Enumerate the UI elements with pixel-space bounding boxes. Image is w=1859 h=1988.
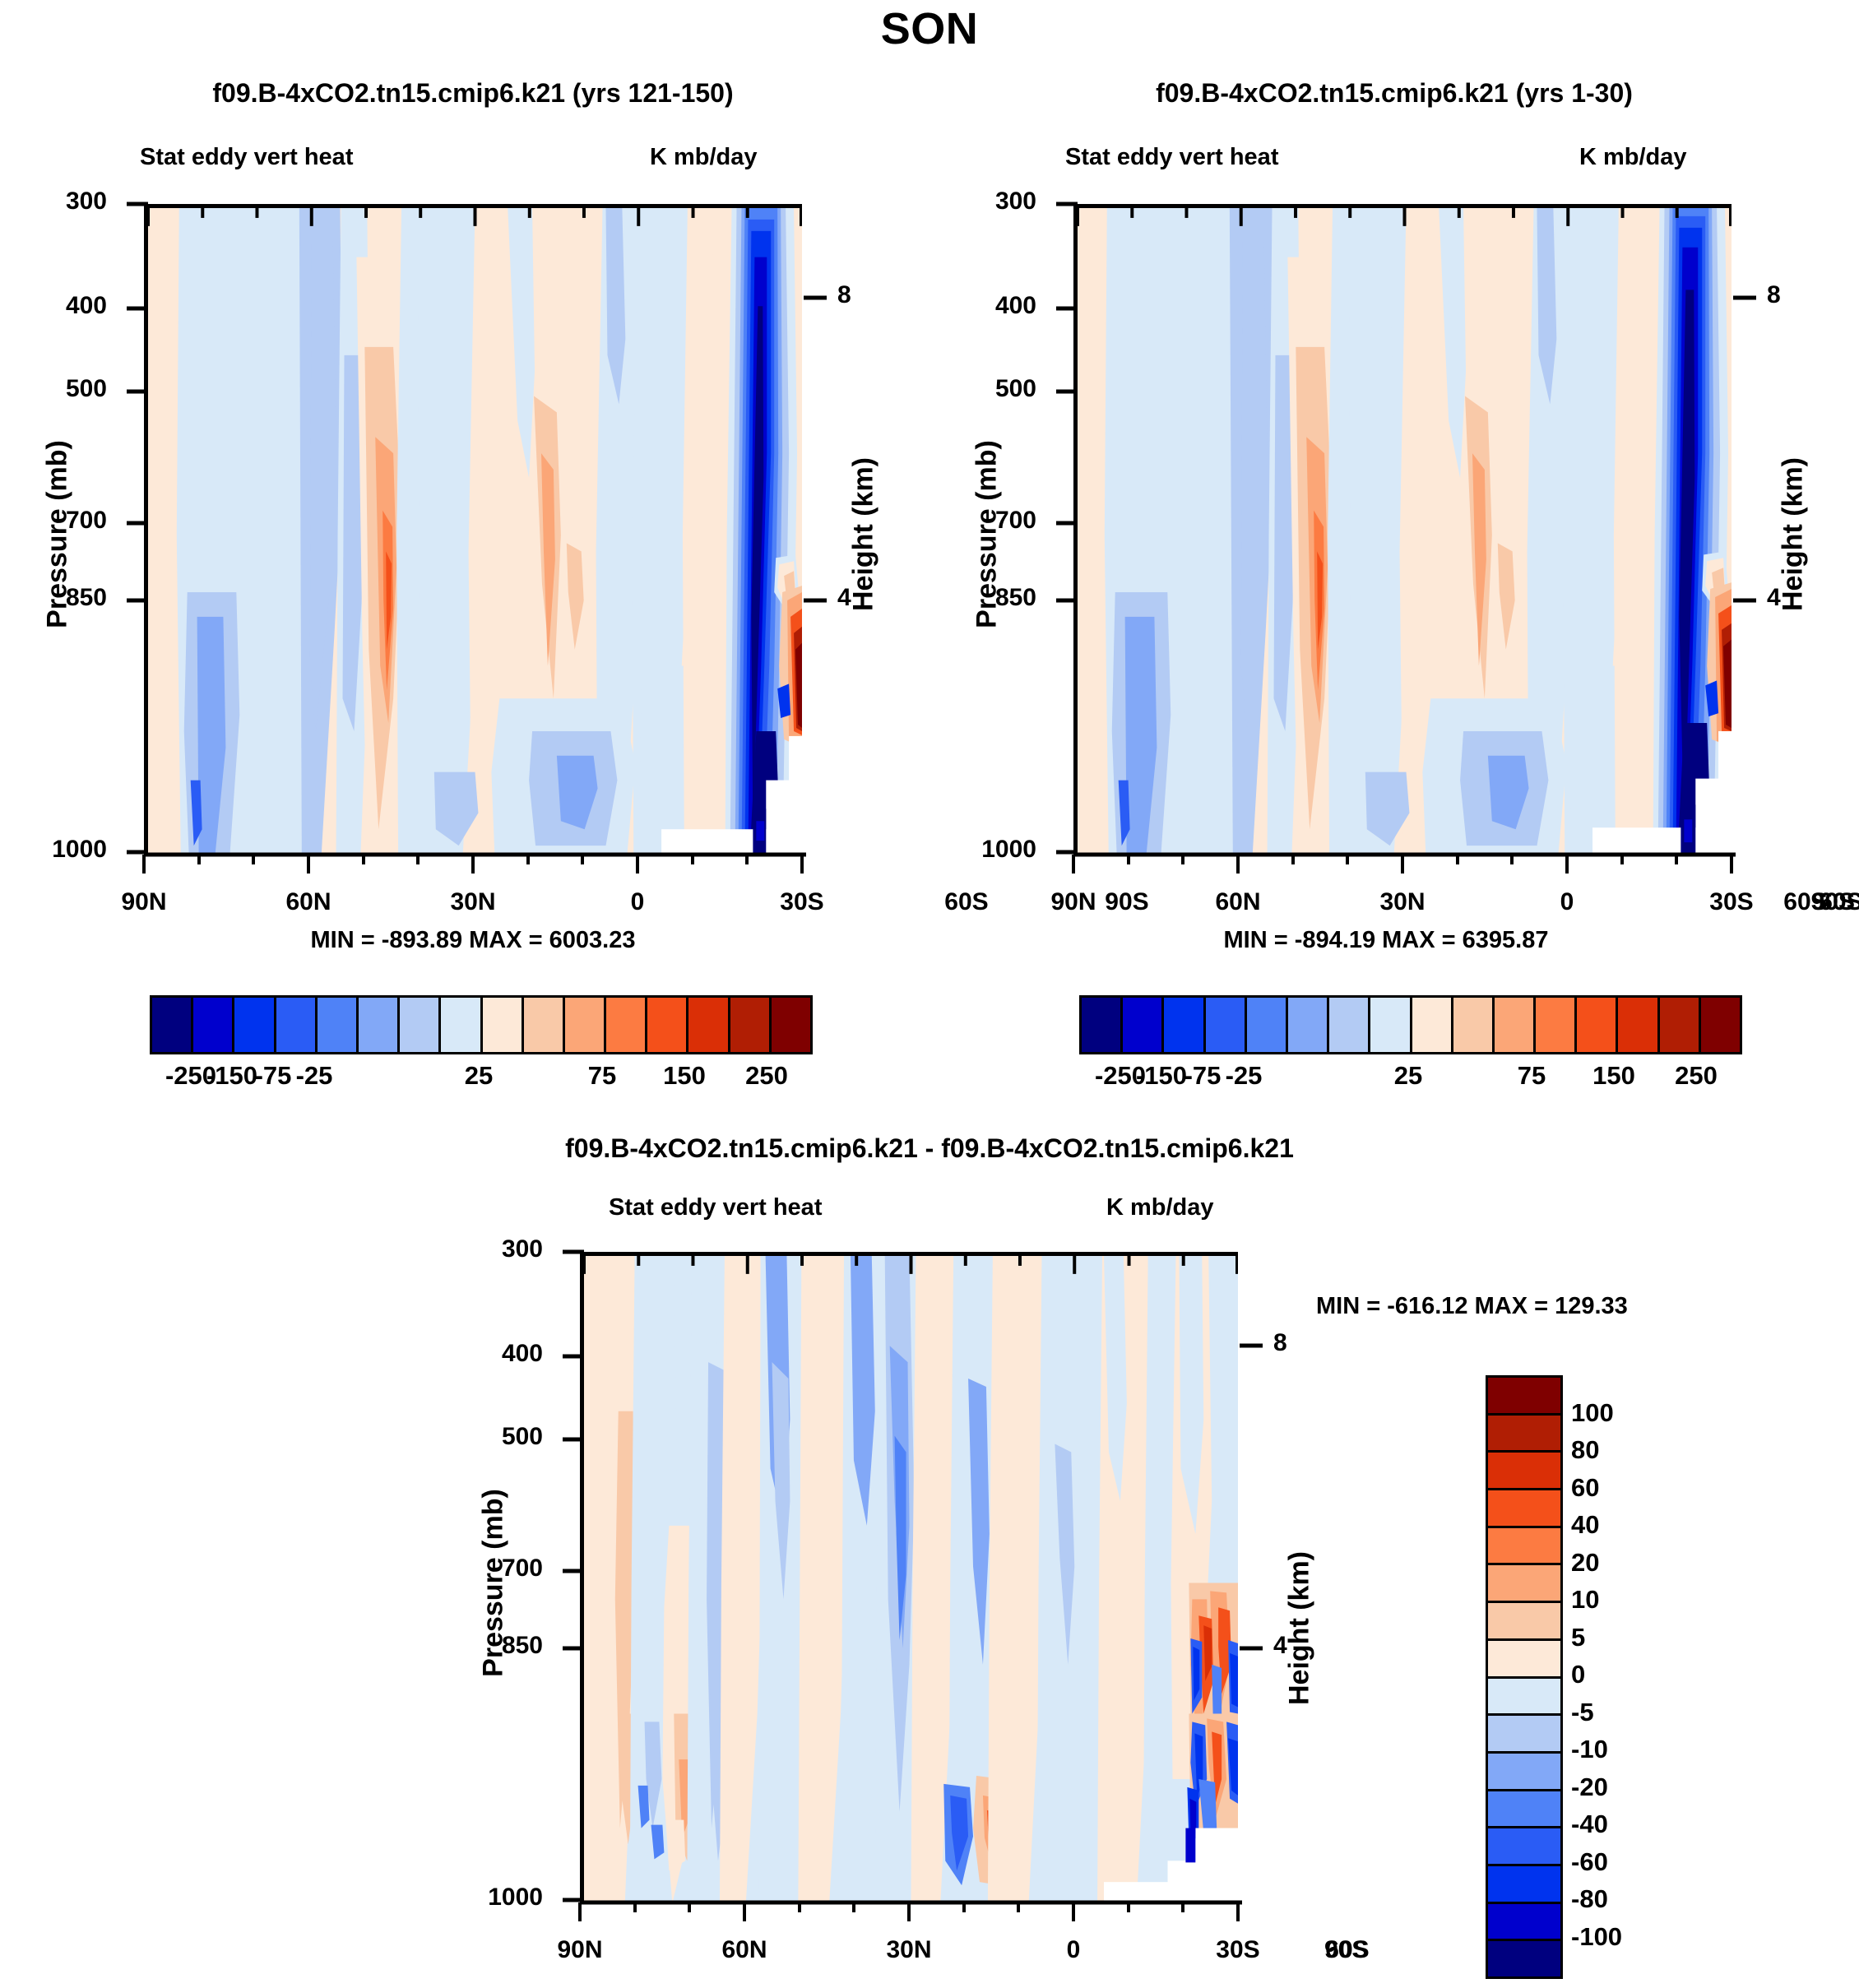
xtick-30N-bottom: 30N — [860, 1936, 958, 1964]
colorbar-swatch-5[interactable] — [359, 998, 400, 1052]
panel-rlabel-top-left: Height (km) — [848, 428, 880, 642]
colorbar-swatch-6[interactable] — [1329, 998, 1370, 1052]
plot-area-top-left — [144, 204, 802, 855]
colorbar-swatch-5[interactable] — [1288, 998, 1329, 1052]
ytick-300-top-right: 300 — [946, 188, 1036, 215]
rtick-8-bottom: 8 — [1273, 1329, 1287, 1357]
ytick-400-bottom: 400 — [452, 1340, 543, 1368]
colorbar-tick-25: 25 — [1394, 1061, 1422, 1091]
colorbar-tick-25: 25 — [465, 1061, 493, 1091]
panel-unitslabel-top-left: K mb/day — [650, 144, 758, 171]
colorbar-swatch-14[interactable] — [1660, 998, 1701, 1052]
panel-rlabel-top-right: Height (km) — [1778, 428, 1810, 642]
contour-field-top-left — [148, 208, 802, 855]
yaxis-bottom — [551, 1249, 588, 1911]
minmax-top-left: MIN = -893.89 MAX = 6003.23 — [0, 927, 946, 954]
colorbar-v-tick-neg100: -100 — [1571, 1922, 1622, 1952]
xtick-30N-top-right: 30N — [1353, 888, 1452, 916]
colorbar-v-swatch-4[interactable] — [1488, 1528, 1560, 1566]
colorbar-v-swatch-13[interactable] — [1488, 1866, 1560, 1904]
colorbar-bottom[interactable] — [1486, 1375, 1563, 1979]
xtick-90S-top-right: 90S — [1732, 888, 1855, 916]
colorbar-v-tick-10: 10 — [1571, 1585, 1599, 1615]
yaxis-top-right — [1045, 201, 1082, 863]
colorbar-swatch-10[interactable] — [565, 998, 606, 1052]
xtick-30N-top-left: 30N — [424, 888, 522, 916]
colorbar-swatch-9[interactable] — [1453, 998, 1495, 1052]
colorbar-swatch-15[interactable] — [772, 998, 810, 1052]
colorbar-swatch-6[interactable] — [400, 998, 441, 1052]
colorbar-swatch-7[interactable] — [441, 998, 482, 1052]
colorbar-swatch-10[interactable] — [1495, 998, 1536, 1052]
colorbar-swatch-1[interactable] — [1123, 998, 1164, 1052]
panel-varlabel-top-left: Stat eddy vert heat — [140, 144, 353, 171]
colorbar-tick--75: -75 — [1184, 1061, 1222, 1091]
panel-unitslabel-top-right: K mb/day — [1579, 144, 1687, 171]
rtick-4-top-right: 4 — [1767, 584, 1781, 612]
plot-area-bottom — [580, 1252, 1238, 1903]
ytick-850-top-right: 850 — [946, 584, 1036, 612]
colorbar-v-tick-neg40: -40 — [1571, 1810, 1608, 1839]
colorbar-swatch-15[interactable] — [1701, 998, 1740, 1052]
xaxis-top-left — [140, 852, 810, 885]
rtick-8-top-right: 8 — [1767, 281, 1781, 309]
colorbar-tick--150: -150 — [206, 1061, 257, 1091]
ytick-300-bottom: 300 — [452, 1235, 543, 1263]
colorbar-v-swatch-5[interactable] — [1488, 1565, 1560, 1603]
colorbar-v-tick-40: 40 — [1571, 1510, 1599, 1540]
colorbar-swatch-11[interactable] — [1536, 998, 1577, 1052]
right-axis-bottom — [1238, 1249, 1275, 1911]
minmax-top-right: MIN = -894.19 MAX = 6395.87 — [913, 927, 1859, 954]
xtick-60N-top-left: 60N — [259, 888, 358, 916]
colorbar-swatch-13[interactable] — [1618, 998, 1659, 1052]
colorbar-v-tick-80: 80 — [1571, 1435, 1599, 1465]
colorbar-swatch-11[interactable] — [606, 998, 647, 1052]
yaxis-top-left — [115, 201, 152, 863]
panel-title-top-left: f09.B-4xCO2.tn15.cmip6.k21 (yrs 121-150) — [53, 78, 892, 109]
colorbar-v-swatch-12[interactable] — [1488, 1828, 1560, 1866]
ytick-850-bottom: 850 — [452, 1632, 543, 1660]
minmax-bottom: MIN = -616.12 MAX = 129.33 — [1316, 1293, 1628, 1320]
colorbar-top-left[interactable] — [150, 995, 813, 1054]
figure-root: SON f09.B-4xCO2.tn15.cmip6.k21 (yrs 121-… — [0, 0, 1859, 1988]
xtick-90N-top-right: 90N — [1024, 888, 1123, 916]
colorbar-top-left-labels: -250-150-75-252575150250 — [150, 1061, 808, 1094]
colorbar-swatch-0[interactable] — [1082, 998, 1123, 1052]
xtick-90N-top-left: 90N — [95, 888, 193, 916]
colorbar-swatch-12[interactable] — [1577, 998, 1618, 1052]
ytick-1000-bottom: 1000 — [436, 1884, 543, 1912]
colorbar-v-tick-neg20: -20 — [1571, 1773, 1608, 1802]
colorbar-tick--25: -25 — [296, 1061, 333, 1091]
colorbar-tick--75: -75 — [255, 1061, 292, 1091]
contour-field-bottom — [584, 1256, 1238, 1903]
panel-title-top-right: f09.B-4xCO2.tn15.cmip6.k21 (yrs 1-30) — [975, 78, 1814, 109]
ytick-700-bottom: 700 — [452, 1555, 543, 1583]
xtick-90S-bottom: 90S — [1324, 1936, 1456, 1964]
colorbar-v-swatch-10[interactable] — [1488, 1754, 1560, 1791]
ytick-400-top-right: 400 — [946, 292, 1036, 320]
colorbar-swatch-8[interactable] — [1412, 998, 1453, 1052]
xtick-60N-top-right: 60N — [1189, 888, 1287, 916]
xtick-30S-top-left: 30S — [753, 888, 851, 916]
colorbar-tick--150: -150 — [1136, 1061, 1187, 1091]
panel-varlabel-top-right: Stat eddy vert heat — [1065, 144, 1278, 171]
xtick-0-top-left: 0 — [588, 888, 687, 916]
ytick-1000-top-left: 1000 — [0, 836, 107, 864]
colorbar-swatch-2[interactable] — [234, 998, 276, 1052]
colorbar-v-swatch-6[interactable] — [1488, 1603, 1560, 1641]
colorbar-tick-250: 250 — [1675, 1061, 1718, 1091]
colorbar-swatch-14[interactable] — [730, 998, 772, 1052]
colorbar-swatch-1[interactable] — [193, 998, 234, 1052]
ytick-1000-top-right: 1000 — [929, 836, 1036, 864]
colorbar-v-tick-neg60: -60 — [1571, 1847, 1608, 1877]
panel-rlabel-bottom: Height (km) — [1284, 1522, 1316, 1735]
colorbar-swatch-3[interactable] — [276, 998, 318, 1052]
ytick-850-top-left: 850 — [16, 584, 107, 612]
ytick-500-bottom: 500 — [452, 1423, 543, 1451]
xaxis-top-right — [1069, 852, 1740, 885]
colorbar-v-swatch-2[interactable] — [1488, 1453, 1560, 1490]
ytick-500-top-left: 500 — [16, 375, 107, 403]
ytick-400-top-left: 400 — [16, 292, 107, 320]
colorbar-v-swatch-1[interactable] — [1488, 1416, 1560, 1453]
colorbar-v-tick-20: 20 — [1571, 1548, 1599, 1578]
ytick-500-top-right: 500 — [946, 375, 1036, 403]
colorbar-swatch-13[interactable] — [688, 998, 730, 1052]
colorbar-tick-75: 75 — [1518, 1061, 1546, 1091]
xtick-60S-top-left: 60S — [917, 888, 1016, 916]
colorbar-v-tick-0: 0 — [1571, 1660, 1585, 1689]
colorbar-swatch-0[interactable] — [152, 998, 193, 1052]
colorbar-swatch-3[interactable] — [1206, 998, 1247, 1052]
colorbar-swatch-7[interactable] — [1370, 998, 1412, 1052]
colorbar-v-tick-neg80: -80 — [1571, 1884, 1608, 1914]
colorbar-tick-150: 150 — [663, 1061, 706, 1091]
colorbar-swatch-12[interactable] — [647, 998, 688, 1052]
rtick-4-top-left: 4 — [837, 584, 851, 612]
ytick-300-top-left: 300 — [16, 188, 107, 215]
colorbar-v-swatch-9[interactable] — [1488, 1716, 1560, 1754]
colorbar-swatch-4[interactable] — [1247, 998, 1288, 1052]
panel-varlabel-bottom: Stat eddy vert heat — [609, 1194, 822, 1221]
colorbar-tick-150: 150 — [1592, 1061, 1635, 1091]
colorbar-v-swatch-14[interactable] — [1488, 1904, 1560, 1942]
colorbar-swatch-8[interactable] — [483, 998, 524, 1052]
xtick-0-top-right: 0 — [1518, 888, 1616, 916]
rtick-4-bottom: 4 — [1273, 1632, 1287, 1660]
xtick-60N-bottom: 60N — [695, 1936, 794, 1964]
xaxis-bottom — [576, 1900, 1246, 1933]
colorbar-v-swatch-0[interactable] — [1488, 1378, 1560, 1416]
panel-unitslabel-bottom: K mb/day — [1106, 1194, 1214, 1221]
figure-suptitle: SON — [0, 3, 1859, 54]
colorbar-v-tick-neg10: -10 — [1571, 1735, 1608, 1764]
plot-area-top-right — [1073, 204, 1732, 855]
colorbar-tick--25: -25 — [1226, 1061, 1263, 1091]
ytick-700-top-right: 700 — [946, 507, 1036, 535]
colorbar-swatch-4[interactable] — [318, 998, 359, 1052]
colorbar-v-swatch-11[interactable] — [1488, 1791, 1560, 1829]
colorbar-top-right-labels: -250-150-75-252575150250 — [1079, 1061, 1737, 1094]
right-axis-top-left — [802, 201, 839, 863]
colorbar-swatch-2[interactable] — [1164, 998, 1205, 1052]
colorbar-top-right[interactable] — [1079, 995, 1742, 1054]
colorbar-v-swatch-7[interactable] — [1488, 1641, 1560, 1679]
colorbar-v-tick-neg5: -5 — [1571, 1698, 1594, 1727]
colorbar-v-tick-5: 5 — [1571, 1623, 1585, 1652]
xtick-90N-bottom: 90N — [531, 1936, 629, 1964]
colorbar-v-tick-60: 60 — [1571, 1473, 1599, 1503]
xtick-0-bottom: 0 — [1024, 1936, 1123, 1964]
colorbar-tick-250: 250 — [745, 1061, 788, 1091]
ytick-700-top-left: 700 — [16, 507, 107, 535]
colorbar-swatch-9[interactable] — [524, 998, 565, 1052]
colorbar-v-swatch-15[interactable] — [1488, 1941, 1560, 1976]
colorbar-tick-75: 75 — [588, 1061, 616, 1091]
rtick-8-top-left: 8 — [837, 281, 851, 309]
contour-field-top-right — [1078, 208, 1732, 855]
colorbar-v-swatch-3[interactable] — [1488, 1490, 1560, 1528]
right-axis-top-right — [1732, 201, 1769, 863]
colorbar-v-swatch-8[interactable] — [1488, 1679, 1560, 1717]
panel-title-bottom: f09.B-4xCO2.tn15.cmip6.k21 - f09.B-4xCO2… — [354, 1133, 1505, 1164]
xtick-30S-bottom: 30S — [1189, 1936, 1287, 1964]
colorbar-v-tick-100: 100 — [1571, 1398, 1614, 1428]
colorbar-bottom-labels: 100806040201050-5-10-20-40-60-80-100 — [1571, 1375, 1719, 1974]
